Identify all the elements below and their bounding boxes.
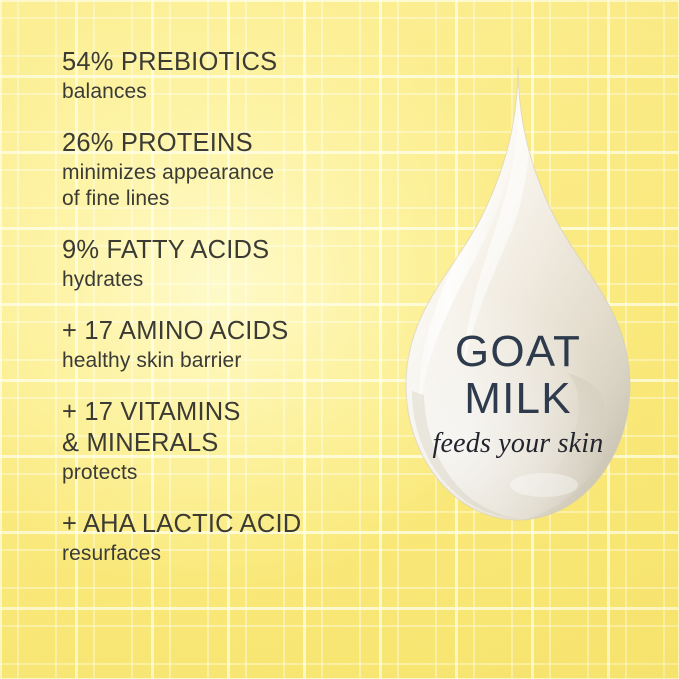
ingredient-title: + AHA LACTIC ACID xyxy=(62,509,392,540)
ingredient-title: + 17 VITAMINS & MINERALS xyxy=(62,397,392,459)
ingredient-item-proteins: 26% PROTEINS minimizes appearance of fin… xyxy=(62,128,392,212)
ingredient-item-amino-acids: + 17 AMINO ACIDS healthy skin barrier xyxy=(62,316,392,374)
ingredient-subtitle: hydrates xyxy=(62,267,392,293)
ingredient-list: 54% PREBIOTICS balances 26% PROTEINS min… xyxy=(62,47,392,567)
infographic-canvas: 54% PREBIOTICS balances 26% PROTEINS min… xyxy=(0,0,679,679)
ingredient-title: 54% PREBIOTICS xyxy=(62,47,392,78)
ingredient-subtitle: protects xyxy=(62,460,392,486)
ingredient-item-fatty-acids: 9% FATTY ACIDS hydrates xyxy=(62,235,392,293)
ingredient-subtitle: minimizes appearance of fine lines xyxy=(62,160,392,212)
ingredient-subtitle: healthy skin barrier xyxy=(62,348,392,374)
ingredient-subtitle: balances xyxy=(62,79,392,105)
ingredient-subtitle: resurfaces xyxy=(62,541,392,567)
milk-droplet-icon xyxy=(368,55,668,555)
ingredient-item-aha-lactic-acid: + AHA LACTIC ACID resurfaces xyxy=(62,509,392,567)
ingredient-title: 9% FATTY ACIDS xyxy=(62,235,392,266)
ingredient-title: + 17 AMINO ACIDS xyxy=(62,316,392,347)
ingredient-title: 26% PROTEINS xyxy=(62,128,392,159)
ingredient-item-vitamins-minerals: + 17 VITAMINS & MINERALS protects xyxy=(62,397,392,486)
ingredient-item-prebiotics: 54% PREBIOTICS balances xyxy=(62,47,392,105)
